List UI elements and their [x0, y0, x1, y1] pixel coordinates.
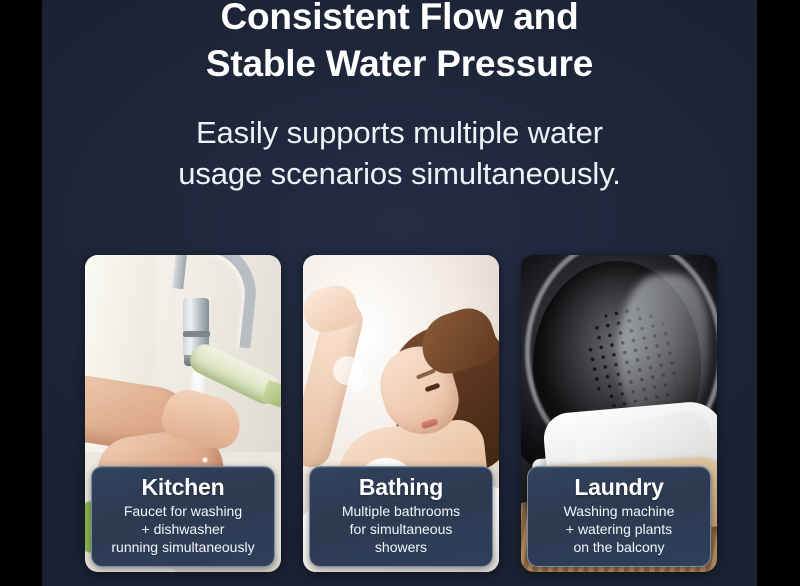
scenario-card-kitchen[interactable]: Kitchen Faucet for washing + dishwasher … [85, 255, 281, 572]
kitchen-caption-desc: Faucet for washing + dishwasher running … [98, 503, 268, 557]
headline-line-2: Stable Water Pressure [42, 41, 757, 88]
scenario-card-list: Kitchen Faucet for washing + dishwasher … [85, 255, 717, 572]
headline-line-1: Consistent Flow and [42, 0, 757, 41]
bathing-caption: Bathing Multiple bathrooms for simultane… [309, 466, 493, 567]
bathing-desc-line-3: showers [316, 539, 486, 557]
letterbox-bar-left [0, 0, 42, 586]
scenario-card-bathing[interactable]: Bathing Multiple bathrooms for simultane… [303, 255, 499, 572]
laundry-desc-line-2: + watering plants [534, 521, 704, 539]
laundry-caption-desc: Washing machine + watering plants on the… [534, 503, 704, 557]
scenario-card-laundry[interactable]: Laundry Washing machine + watering plant… [521, 255, 717, 572]
kitchen-desc-line-3: running simultaneously [98, 539, 268, 557]
laundry-caption-title: Laundry [534, 475, 704, 500]
kitchen-desc-line-2: + dishwasher [98, 521, 268, 539]
subhead-line-2: usage scenarios simultaneously. [42, 153, 757, 194]
bubbles-on-arm [327, 350, 373, 396]
bathing-desc-line-1: Multiple bathrooms [316, 503, 486, 521]
page-subtitle: Easily supports multiple water usage sce… [42, 112, 757, 194]
kitchen-caption: Kitchen Faucet for washing + dishwasher … [91, 466, 275, 567]
faucet-ring-icon [183, 331, 210, 337]
page-title: Consistent Flow and Stable Water Pressur… [42, 0, 757, 87]
bathing-desc-line-2: for simultaneous [316, 521, 486, 539]
promo-stage: Consistent Flow and Stable Water Pressur… [42, 0, 757, 586]
laundry-caption: Laundry Washing machine + watering plant… [527, 466, 711, 567]
kitchen-desc-line-1: Faucet for washing [98, 503, 268, 521]
promo-screen: Consistent Flow and Stable Water Pressur… [0, 0, 800, 586]
laundry-desc-line-3: on the balcony [534, 539, 704, 557]
subhead-line-1: Easily supports multiple water [42, 112, 757, 153]
laundry-desc-line-1: Washing machine [534, 503, 704, 521]
bathing-caption-title: Bathing [316, 475, 486, 500]
letterbox-bar-right [757, 0, 800, 586]
kitchen-caption-title: Kitchen [98, 475, 268, 500]
bathing-caption-desc: Multiple bathrooms for simultaneous show… [316, 503, 486, 557]
